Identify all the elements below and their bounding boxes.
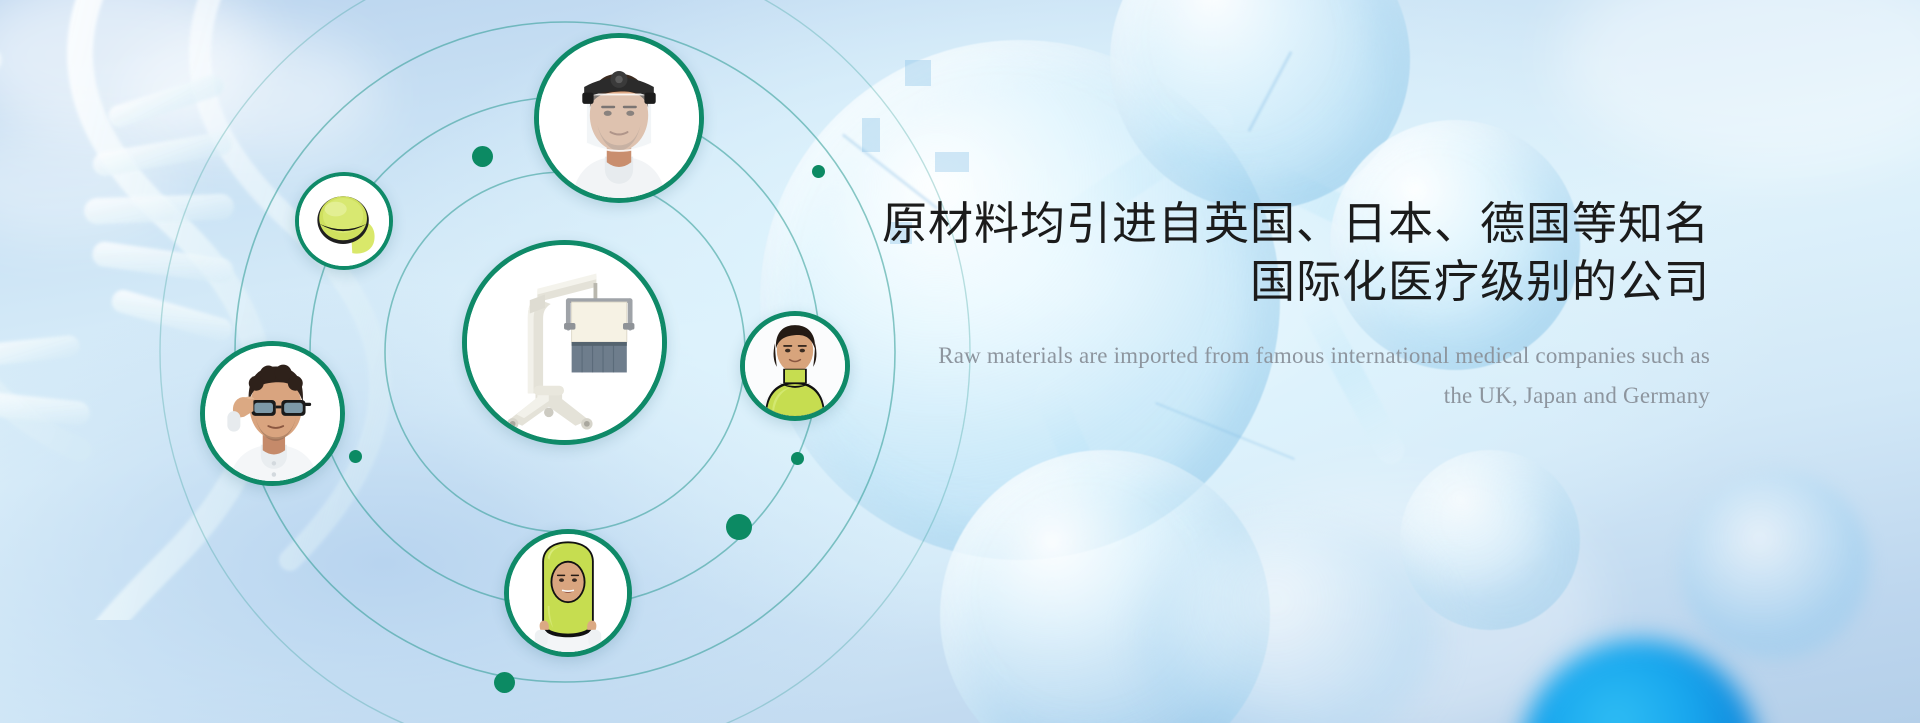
orbit-dot (349, 450, 362, 463)
node-lead-hood[interactable] (504, 529, 632, 657)
orbit-dot (472, 146, 493, 167)
headline-line-2: 国际化医疗级别的公司 (880, 253, 1710, 311)
banner-copy: 原材料均引进自英国、日本、德国等知名 国际化医疗级别的公司 Raw materi… (880, 195, 1710, 438)
page-title: 原材料均引进自英国、日本、德国等知名 国际化医疗级别的公司 (880, 195, 1710, 310)
subtitle: Raw materials are imported from famous i… (880, 336, 1710, 415)
doctor-face-shield-icon (539, 38, 699, 198)
orbit-dot (726, 514, 752, 540)
node-mobile-radiation-screen[interactable] (462, 240, 667, 445)
shard-decor (862, 118, 880, 152)
node-doctor-lead-glasses[interactable] (200, 341, 345, 486)
thyroid-collar-icon (745, 316, 845, 416)
shard-decor (905, 60, 931, 86)
lead-cap-icon (299, 176, 389, 266)
node-thyroid-collar[interactable] (740, 311, 850, 421)
subtitle-line-2: the UK, Japan and Germany (880, 376, 1710, 416)
subtitle-line-1: Raw materials are imported from famous i… (938, 343, 1710, 368)
orbit-dot (812, 165, 825, 178)
pale-sphere-decor (1680, 470, 1870, 660)
orbit-dot (791, 452, 804, 465)
hero-banner: 原材料均引进自英国、日本、德国等知名 国际化医疗级别的公司 Raw materi… (0, 0, 1920, 723)
node-doctor-face-shield[interactable] (534, 33, 704, 203)
lead-glasses-icon (205, 346, 340, 481)
headline-line-1: 原材料均引进自英国、日本、德国等知名 (882, 198, 1710, 249)
radiation-screen-icon (467, 245, 662, 440)
lead-hood-icon (509, 534, 627, 652)
cloud-decor (120, 30, 380, 160)
shard-decor (935, 152, 969, 172)
node-lead-cap[interactable] (295, 172, 393, 270)
orbit-dot (494, 672, 515, 693)
